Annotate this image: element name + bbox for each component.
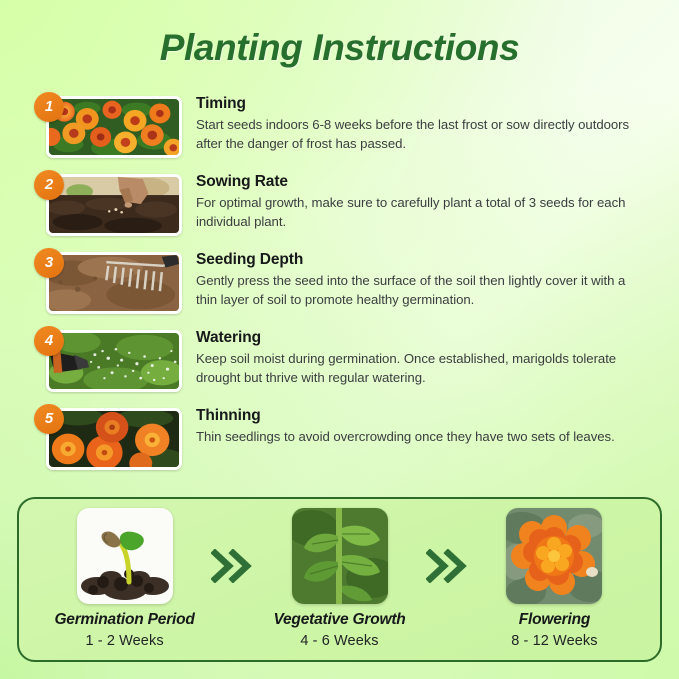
step-text: Seeding Depth Gently press the seed into… xyxy=(196,248,649,309)
timeline-phase: Vegetative Growth 4 - 6 Weeks xyxy=(256,508,423,651)
step-title: Watering xyxy=(196,328,649,348)
page-title: Planting Instructions xyxy=(0,26,679,70)
step-thumbnail-wrap: 4 xyxy=(34,326,182,394)
marigold-flower-bed-photo xyxy=(46,96,182,158)
step-title: Thinning xyxy=(196,406,649,426)
leafy-green-plant-photo xyxy=(292,508,388,604)
step-number-badge: 4 xyxy=(34,326,64,356)
step-thumbnail-wrap: 2 xyxy=(34,170,182,238)
phase-name: Flowering xyxy=(471,610,638,630)
double-chevron-right-icon xyxy=(423,549,471,583)
step-thumbnail-wrap: 3 xyxy=(34,248,182,316)
planting-instructions-infographic: Planting Instructions xyxy=(0,0,679,679)
step-text: Sowing Rate For optimal growth, make sur… xyxy=(196,170,649,231)
step-item: 3 Seeding Depth Gently press the seed in… xyxy=(34,248,649,322)
phase-name: Germination Period xyxy=(41,610,208,630)
step-description: Gently press the seed into the surface o… xyxy=(196,272,649,309)
hose-watering-plants-photo xyxy=(46,330,182,392)
step-description: Keep soil moist during germination. Once… xyxy=(196,350,649,387)
step-item: 4 Watering Keep soil moist during germin… xyxy=(34,326,649,400)
step-number-badge: 1 xyxy=(34,92,64,122)
step-text: Thinning Thin seedlings to avoid overcro… xyxy=(196,404,649,447)
phase-name: Vegetative Growth xyxy=(256,610,423,630)
step-number-badge: 3 xyxy=(34,248,64,278)
phase-duration: 4 - 6 Weeks xyxy=(256,631,423,651)
step-text: Watering Keep soil moist during germinat… xyxy=(196,326,649,387)
step-thumbnail-wrap: 5 xyxy=(34,404,182,472)
orange-marigold-bloom-photo xyxy=(506,508,602,604)
double-chevron-right-icon xyxy=(208,549,256,583)
step-description: For optimal growth, make sure to careful… xyxy=(196,194,649,231)
timeline-phase: Germination Period 1 - 2 Weeks xyxy=(41,508,208,651)
step-description: Thin seedlings to avoid overcrowding onc… xyxy=(196,428,649,447)
steps-list: 1 Timing Start seeds indoors 6-8 weeks b… xyxy=(34,92,649,482)
step-title: Sowing Rate xyxy=(196,172,649,192)
step-item: 5 Thinning Thin seedlings to avoid overc… xyxy=(34,404,649,478)
growth-timeline-panel: Germination Period 1 - 2 Weeks xyxy=(17,497,662,662)
sprouting-seedling-photo xyxy=(77,508,173,604)
rake-on-soil-photo xyxy=(46,252,182,314)
step-title: Seeding Depth xyxy=(196,250,649,270)
hand-sowing-seeds-in-soil-photo xyxy=(46,174,182,236)
step-title: Timing xyxy=(196,94,649,114)
step-text: Timing Start seeds indoors 6-8 weeks bef… xyxy=(196,92,649,153)
step-item: 2 Sowing Rate For optimal growth, make s… xyxy=(34,170,649,244)
step-description: Start seeds indoors 6-8 weeks before the… xyxy=(196,116,649,153)
step-thumbnail-wrap: 1 xyxy=(34,92,182,160)
phase-duration: 8 - 12 Weeks xyxy=(471,631,638,651)
phase-duration: 1 - 2 Weeks xyxy=(41,631,208,651)
step-number-badge: 5 xyxy=(34,404,64,434)
step-number-badge: 2 xyxy=(34,170,64,200)
timeline-phase: Flowering 8 - 12 Weeks xyxy=(471,508,638,651)
orange-marigold-blooms-photo xyxy=(46,408,182,470)
step-item: 1 Timing Start seeds indoors 6-8 weeks b… xyxy=(34,92,649,166)
